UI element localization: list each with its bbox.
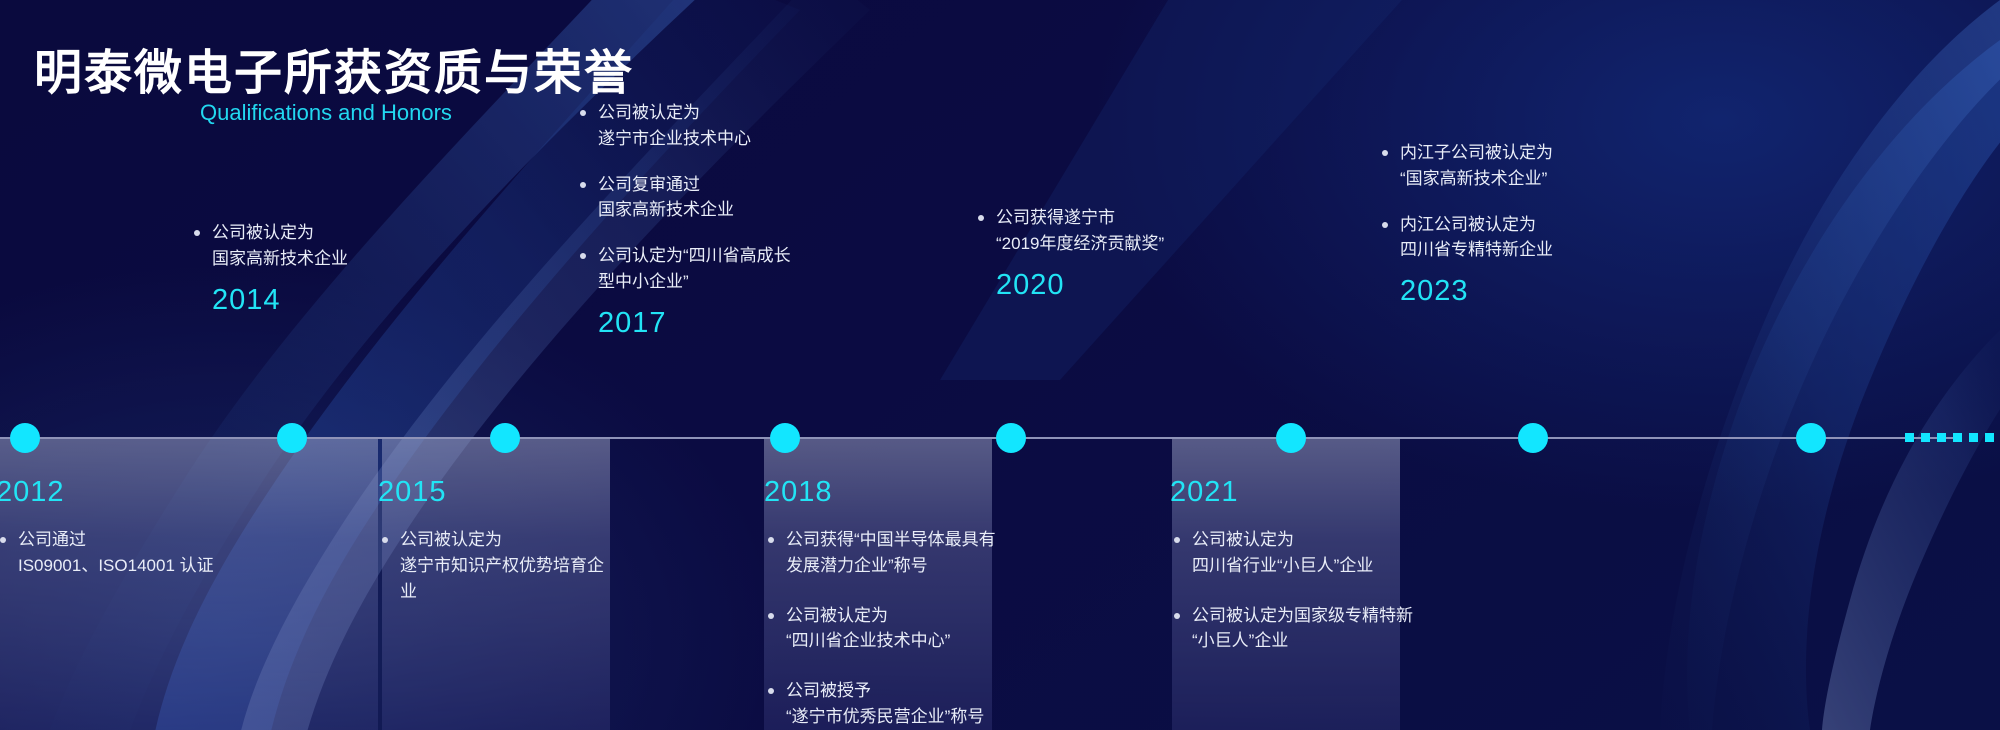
axis-dash [1953,433,1962,442]
bullet-list-2014: 公司被认定为 国家高新技术企业 [190,220,510,272]
timeline-node-2021[interactable] [1518,423,1548,453]
year-label-2017: 2017 [598,309,876,338]
axis-dash [1921,433,1930,442]
page-subtitle: Qualifications and Honors [200,100,452,126]
list-item: 公司被授予 “遂宁市优秀民营企业”称号 [764,678,1014,730]
list-item: 公司被认定为 遂宁市知识产权优势培育企 业 [378,527,616,604]
bullet-list-2012: 公司通过 IS09001、ISO14001 认证 [0,527,326,579]
bullet-list-2023: 内江子公司被认定为 “国家高新技术企业” 内江公司被认定为 四川省专精特新企业 [1378,140,1698,263]
timeline-entry-2014: 公司被认定为 国家高新技术企业 2014 [190,220,510,315]
timeline-node-2014[interactable] [277,423,307,453]
list-item: 公司通过 IS09001、ISO14001 认证 [0,527,326,579]
bullet-list-2021: 公司被认定为 四川省行业“小巨人”企业 公司被认定为国家级专精特新 “小巨人”企… [1170,527,1425,654]
timeline-node-2018[interactable] [996,423,1026,453]
timeline-entry-2015: 2015 公司被认定为 遂宁市知识产权优势培育企 业 [378,478,616,628]
timeline-entry-2018: 2018 公司获得“中国半导体最具有 发展潜力企业”称号 公司被认定为 “四川省… [764,478,1014,730]
list-item: 公司被认定为 遂宁市企业技术中心 [576,100,876,152]
list-item: 内江子公司被认定为 “国家高新技术企业” [1378,140,1698,192]
list-item: 公司被认定为 四川省行业“小巨人”企业 [1170,527,1425,579]
timeline-node-2012[interactable] [10,423,40,453]
bullet-list-2017: 公司被认定为 遂宁市企业技术中心 公司复审通过 国家高新技术企业 公司认定为“四… [576,100,876,295]
axis-dash [1905,433,1914,442]
timeline-node-2015[interactable] [490,423,520,453]
timeline-entry-2020: 公司获得遂宁市 “2019年度经济贡献奖” 2020 [974,205,1274,300]
bullet-list-2018: 公司获得“中国半导体最具有 发展潜力企业”称号 公司被认定为 “四川省企业技术中… [764,527,1014,730]
page-title: 明泰微电子所获资质与荣誉 [34,33,634,103]
year-label-2014: 2014 [212,286,510,315]
year-label-2023: 2023 [1400,277,1698,306]
list-item: 公司复审通过 国家高新技术企业 [576,172,876,224]
axis-dash [1969,433,1978,442]
list-item: 公司被认定为国家级专精特新 “小巨人”企业 [1170,603,1425,655]
year-label-2012: 2012 [0,478,326,507]
timeline-entry-2023: 内江子公司被认定为 “国家高新技术企业” 内江公司被认定为 四川省专精特新企业 … [1378,140,1698,306]
timeline-entry-2021: 2021 公司被认定为 四川省行业“小巨人”企业 公司被认定为国家级专精特新 “… [1170,478,1425,678]
list-item: 公司被认定为 “四川省企业技术中心” [764,603,1014,655]
axis-dash [1937,433,1946,442]
bullet-list-2015: 公司被认定为 遂宁市知识产权优势培育企 业 [378,527,616,604]
timeline-entry-2017: 公司被认定为 遂宁市企业技术中心 公司复审通过 国家高新技术企业 公司认定为“四… [576,100,876,338]
timeline-node-2017[interactable] [770,423,800,453]
year-label-2020: 2020 [996,271,1274,300]
list-item: 公司认定为“四川省高成长 型中小企业” [576,243,876,295]
list-item: 公司获得遂宁市 “2019年度经济贡献奖” [974,205,1274,257]
year-label-2015: 2015 [378,478,616,507]
timeline-node-2023[interactable] [1796,423,1826,453]
list-item: 内江公司被认定为 四川省专精特新企业 [1378,212,1698,264]
axis-dash [1985,433,1994,442]
list-item: 公司获得“中国半导体最具有 发展潜力企业”称号 [764,527,1014,579]
timeline-axis-end-dashes [1905,433,1994,442]
list-item: 公司被认定为 国家高新技术企业 [190,220,510,272]
year-label-2021: 2021 [1170,478,1425,507]
timeline-entry-2012: 2012 公司通过 IS09001、ISO14001 认证 [0,478,326,603]
slide-canvas: 明泰微电子所获资质与荣誉 Qualifications and Honors 2… [0,0,2000,730]
timeline-node-2020[interactable] [1276,423,1306,453]
year-label-2018: 2018 [764,478,1014,507]
bullet-list-2020: 公司获得遂宁市 “2019年度经济贡献奖” [974,205,1274,257]
